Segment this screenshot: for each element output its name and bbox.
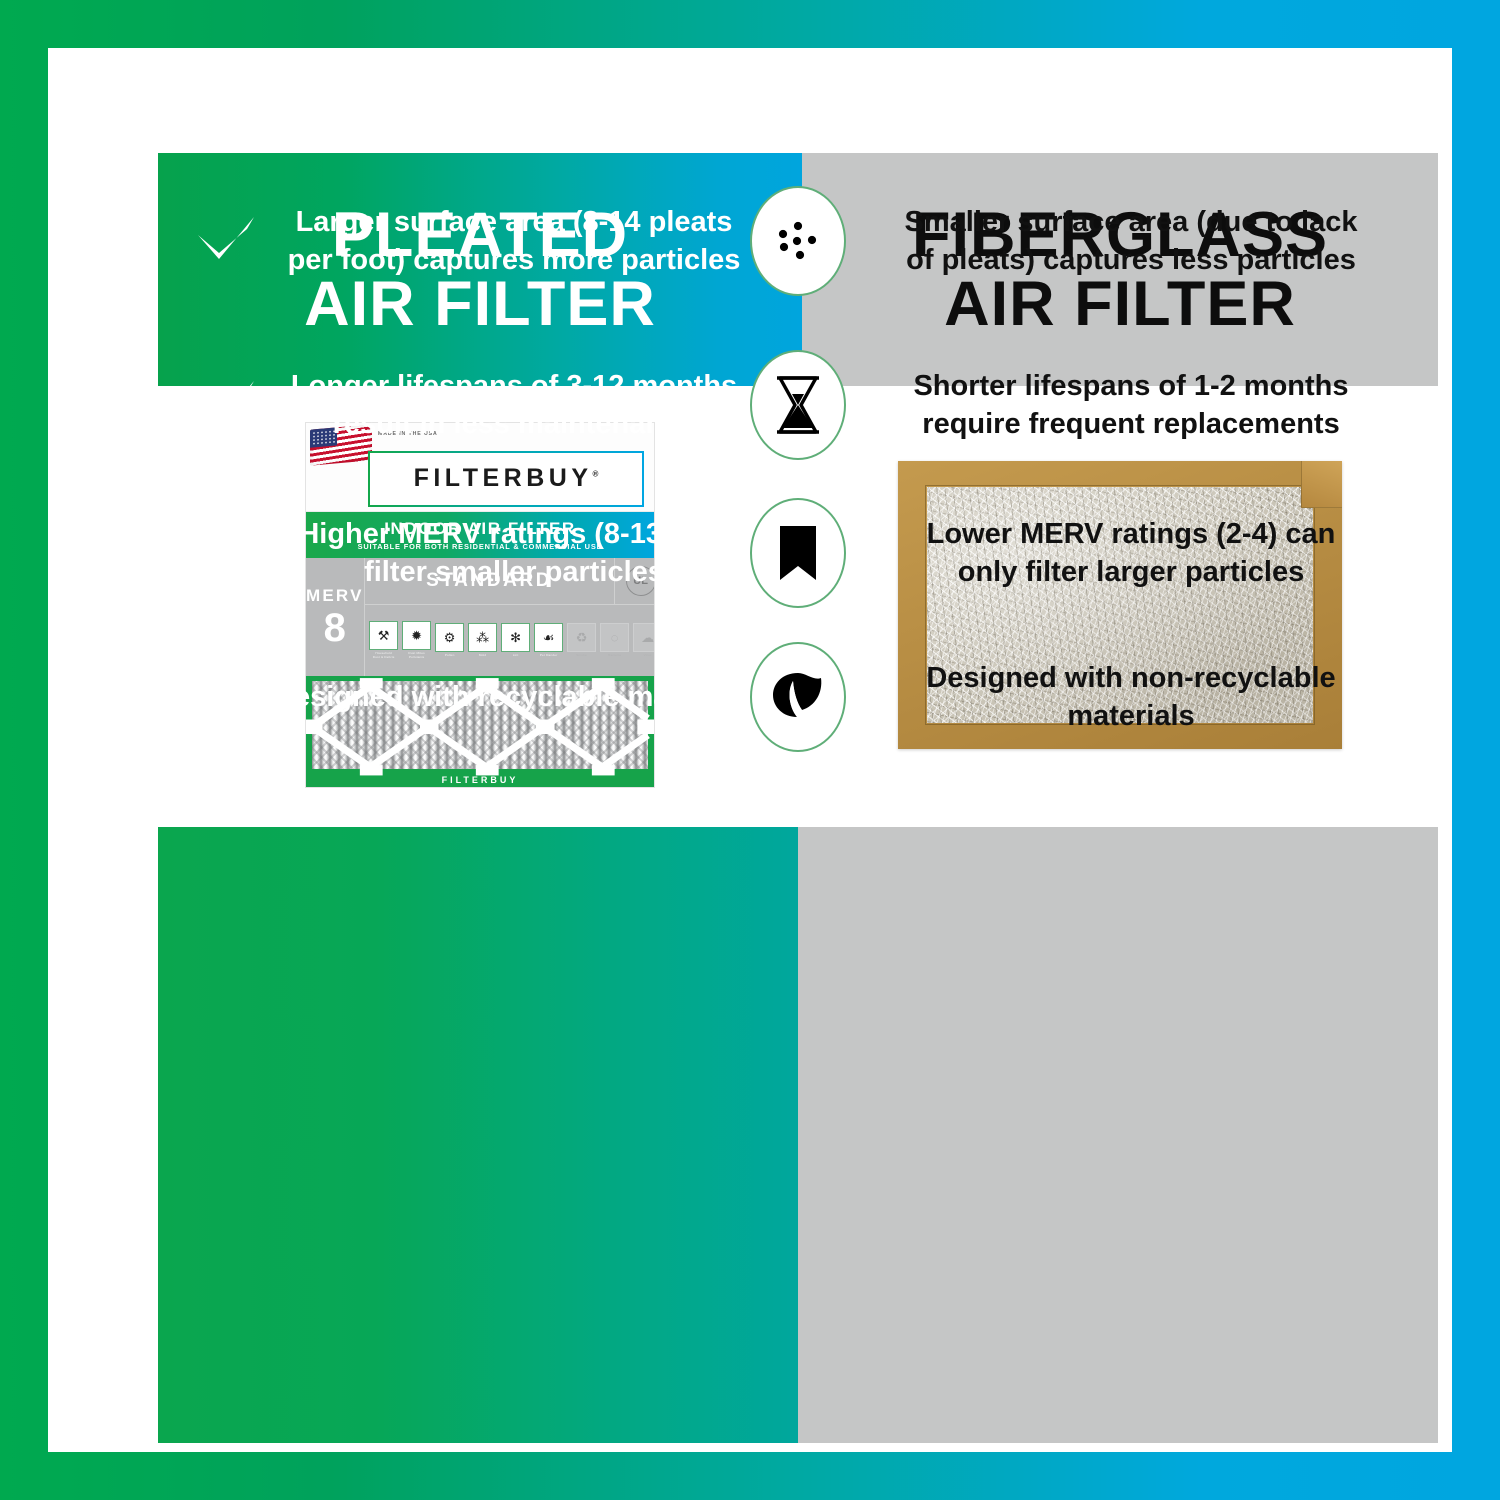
checkmark-icon — [180, 671, 272, 723]
comparison-row: Larger surface area (8-14 pleats per foo… — [158, 153, 1438, 329]
frame-brand-label: FILTERBUY — [306, 775, 654, 785]
comparison-row: Longer lifespans of 3-12 months result i… — [158, 329, 1438, 481]
comparison-row-left: Designed with recyclable materials — [158, 625, 798, 769]
comparison-row-left: Higher MERV ratings (8-13) can filter sm… — [158, 481, 798, 625]
checkmark-icon — [180, 379, 272, 431]
comparison-section — [158, 827, 1438, 1443]
particles-icon — [750, 186, 846, 296]
comparison-rows: Larger surface area (8-14 pleats per foo… — [158, 153, 1438, 769]
outer-gradient-frame: PLEATED AIR FILTER FIBERGLASS AIR FILTER — [0, 0, 1500, 1500]
fiberglass-drawback-text: Lower MERV ratings (2-4) can only filter… — [798, 515, 1438, 592]
hourglass-icon — [750, 350, 846, 460]
comparison-row: Designed with recyclable materialsDesign… — [158, 625, 1438, 769]
fiberglass-drawback-text: Designed with non-recyclable materials — [798, 659, 1438, 736]
comparison-row-left: Larger surface area (8-14 pleats per foo… — [158, 153, 798, 329]
comparison-right-panel — [798, 827, 1438, 1443]
leaf-eco-icon — [750, 642, 846, 752]
comparison-left-panel — [158, 827, 798, 1443]
comparison-row-right: Designed with non-recyclable materials — [798, 625, 1438, 769]
pleated-benefit-text: Designed with recyclable materials — [272, 678, 798, 716]
comparison-row-right: Shorter lifespans of 1-2 months require … — [798, 329, 1438, 481]
checkmark-icon — [180, 215, 272, 267]
comparison-row-right: Lower MERV ratings (2-4) can only filter… — [798, 481, 1438, 625]
comparison-row-right: Smaller surface area (due to lack of ple… — [798, 153, 1438, 329]
infographic-stage: PLEATED AIR FILTER FIBERGLASS AIR FILTER — [158, 153, 1438, 1443]
comparison-row: Higher MERV ratings (8-13) can filter sm… — [158, 481, 1438, 625]
checkmark-icon — [180, 527, 272, 579]
pleated-benefit-text: Higher MERV ratings (8-13) can filter sm… — [272, 515, 798, 592]
white-mat: PLEATED AIR FILTER FIBERGLASS AIR FILTER — [48, 48, 1452, 1452]
fiberglass-drawback-text: Smaller surface area (due to lack of ple… — [798, 203, 1438, 280]
fiberglass-drawback-text: Shorter lifespans of 1-2 months require … — [798, 367, 1438, 444]
comparison-row-left: Longer lifespans of 3-12 months result i… — [158, 329, 798, 481]
pleated-benefit-text: Larger surface area (8-14 pleats per foo… — [272, 203, 798, 280]
bookmark-icon — [750, 498, 846, 608]
pleated-benefit-text: Longer lifespans of 3-12 months result i… — [272, 367, 798, 444]
